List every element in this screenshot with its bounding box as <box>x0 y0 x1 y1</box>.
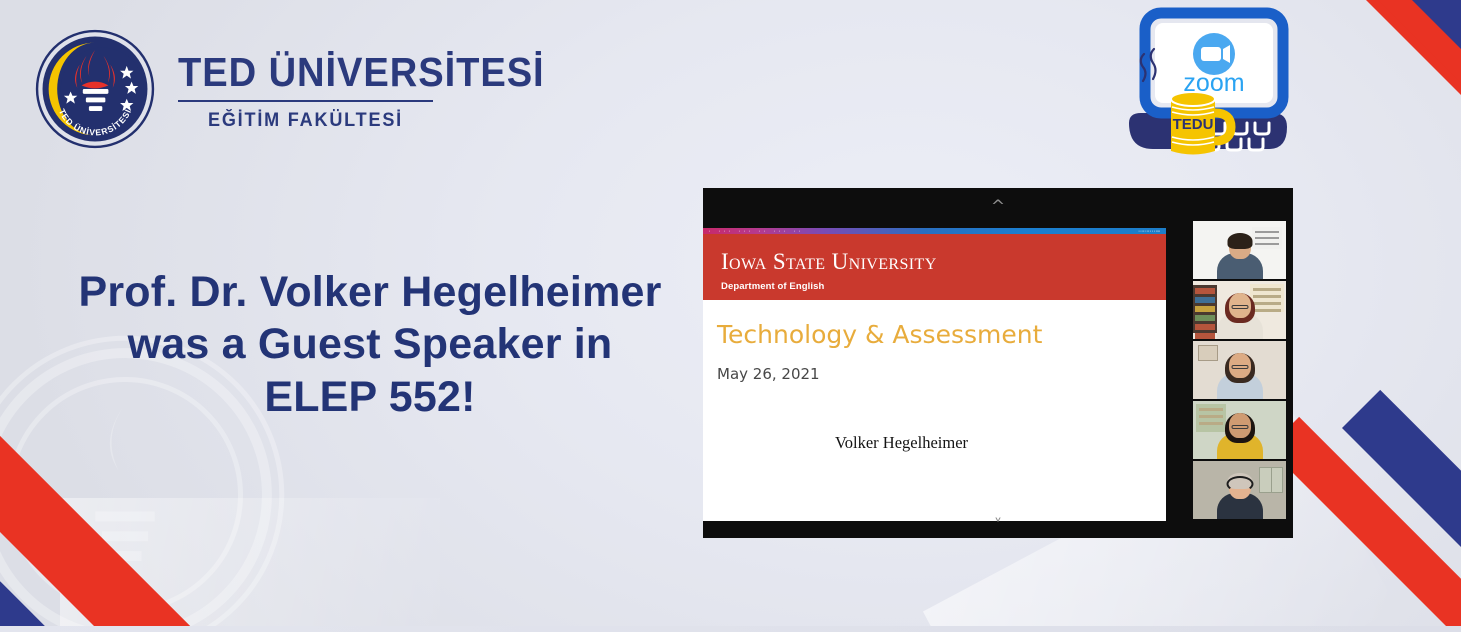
wall-note-icon <box>1252 227 1282 249</box>
slide-presenter-name: Volker Hegelheimer <box>717 433 1166 453</box>
wall-pattern <box>1196 404 1226 432</box>
brand-wordmark: TED ÜNİVERSİTESİ EĞİTİM FAKÜLTESİ <box>178 46 572 132</box>
wordmark-university: TED ÜNİVERSİTESİ <box>178 52 545 93</box>
zoom-meeting-screenshot: ^ ▪ ▪▪▪ ▪▪▪ ▪▪ ▪▪▪ ▪▪ ▪ ▪ ▪▪ ▪ ▪▪ ▪ ▪ ▪ … <box>703 188 1293 538</box>
background-glow-left <box>60 498 440 632</box>
wordmark-divider <box>178 100 433 102</box>
decor-stripe-navy-tr-1 <box>1330 0 1461 182</box>
slide-body: Technology & Assessment May 26, 2021 Vol… <box>703 300 1166 453</box>
decor-stripe-navy-bl <box>0 428 200 632</box>
headline-line-2: was a Guest Speaker in <box>40 318 700 370</box>
mug-label: TEDU <box>1173 116 1214 133</box>
slide-title: Technology & Assessment <box>717 322 1166 347</box>
decor-stripe-red-tr-2 <box>1318 0 1461 237</box>
mac-menu-bar: ▪ ▪▪▪ ▪▪▪ ▪▪ ▪▪▪ ▪▪ ▪ ▪ ▪▪ ▪ ▪▪ ▪ ▪ ▪ ▪▪… <box>703 228 1166 234</box>
picture-frame <box>1198 345 1218 361</box>
participant-tile-1[interactable] <box>1193 221 1286 279</box>
chevron-down-icon[interactable]: ˅ <box>703 518 1293 535</box>
participant-tile-3[interactable] <box>1193 341 1286 399</box>
zoom-laptop-mug-illustration: zoom TEDU <box>1083 5 1319 185</box>
ted-university-seal-icon: TED ÜNİVERSİTESİ <box>34 28 156 150</box>
mac-menu-left-items: ▪ ▪▪▪ ▪▪▪ ▪▪ ▪▪▪ ▪▪ <box>709 229 804 233</box>
decor-stripe-navy-br <box>1342 390 1461 632</box>
shared-screen-slide: ▪ ▪▪▪ ▪▪▪ ▪▪ ▪▪▪ ▪▪ ▪ ▪ ▪▪ ▪ ▪▪ ▪ ▪ ▪ ▪▪… <box>703 228 1166 521</box>
headline-line-3: ELEP 552! <box>40 371 700 423</box>
participant-tile-4[interactable] <box>1193 401 1286 459</box>
participant-tile-2[interactable] <box>1193 281 1286 339</box>
decor-stripe-red-br <box>1268 417 1461 632</box>
university-name: Iowa State University <box>721 250 1166 273</box>
participant-tile-5-active-speaker[interactable] <box>1193 461 1286 519</box>
mac-menu-right-items: ▪ ▪ ▪▪ ▪ ▪▪ ▪ ▪ ▪ ▪▪▪▪ <box>1138 229 1160 233</box>
department-name: Department of English <box>721 281 1166 292</box>
chevron-up-icon[interactable]: ^ <box>703 199 1293 216</box>
iowa-state-header-band: Iowa State University Department of Engl… <box>703 234 1166 300</box>
slide-date: May 26, 2021 <box>717 365 1166 383</box>
participant-filmstrip <box>1193 221 1286 519</box>
wordmark-faculty: EĞİTİM FAKÜLTESİ <box>184 110 426 132</box>
brand-lockup: TED ÜNİVERSİTESİ TED ÜNİVERSİTESİ EĞİTİM… <box>34 28 572 150</box>
headline-line-1: Prof. Dr. Volker Hegelheimer <box>40 266 700 318</box>
bookshelf <box>1193 285 1217 333</box>
wall-art <box>1250 284 1284 312</box>
banner-bottom-edge <box>0 626 1461 632</box>
headset-icon <box>1226 476 1253 492</box>
decor-stripe-navy-tr-2 <box>1402 0 1461 287</box>
page-title: Prof. Dr. Volker Hegelheimer was a Guest… <box>40 266 700 423</box>
window <box>1259 467 1283 493</box>
event-announcement-banner: TED ÜNİVERSİTESİ TED ÜNİVERSİTESİ EĞİTİM… <box>0 0 1461 632</box>
